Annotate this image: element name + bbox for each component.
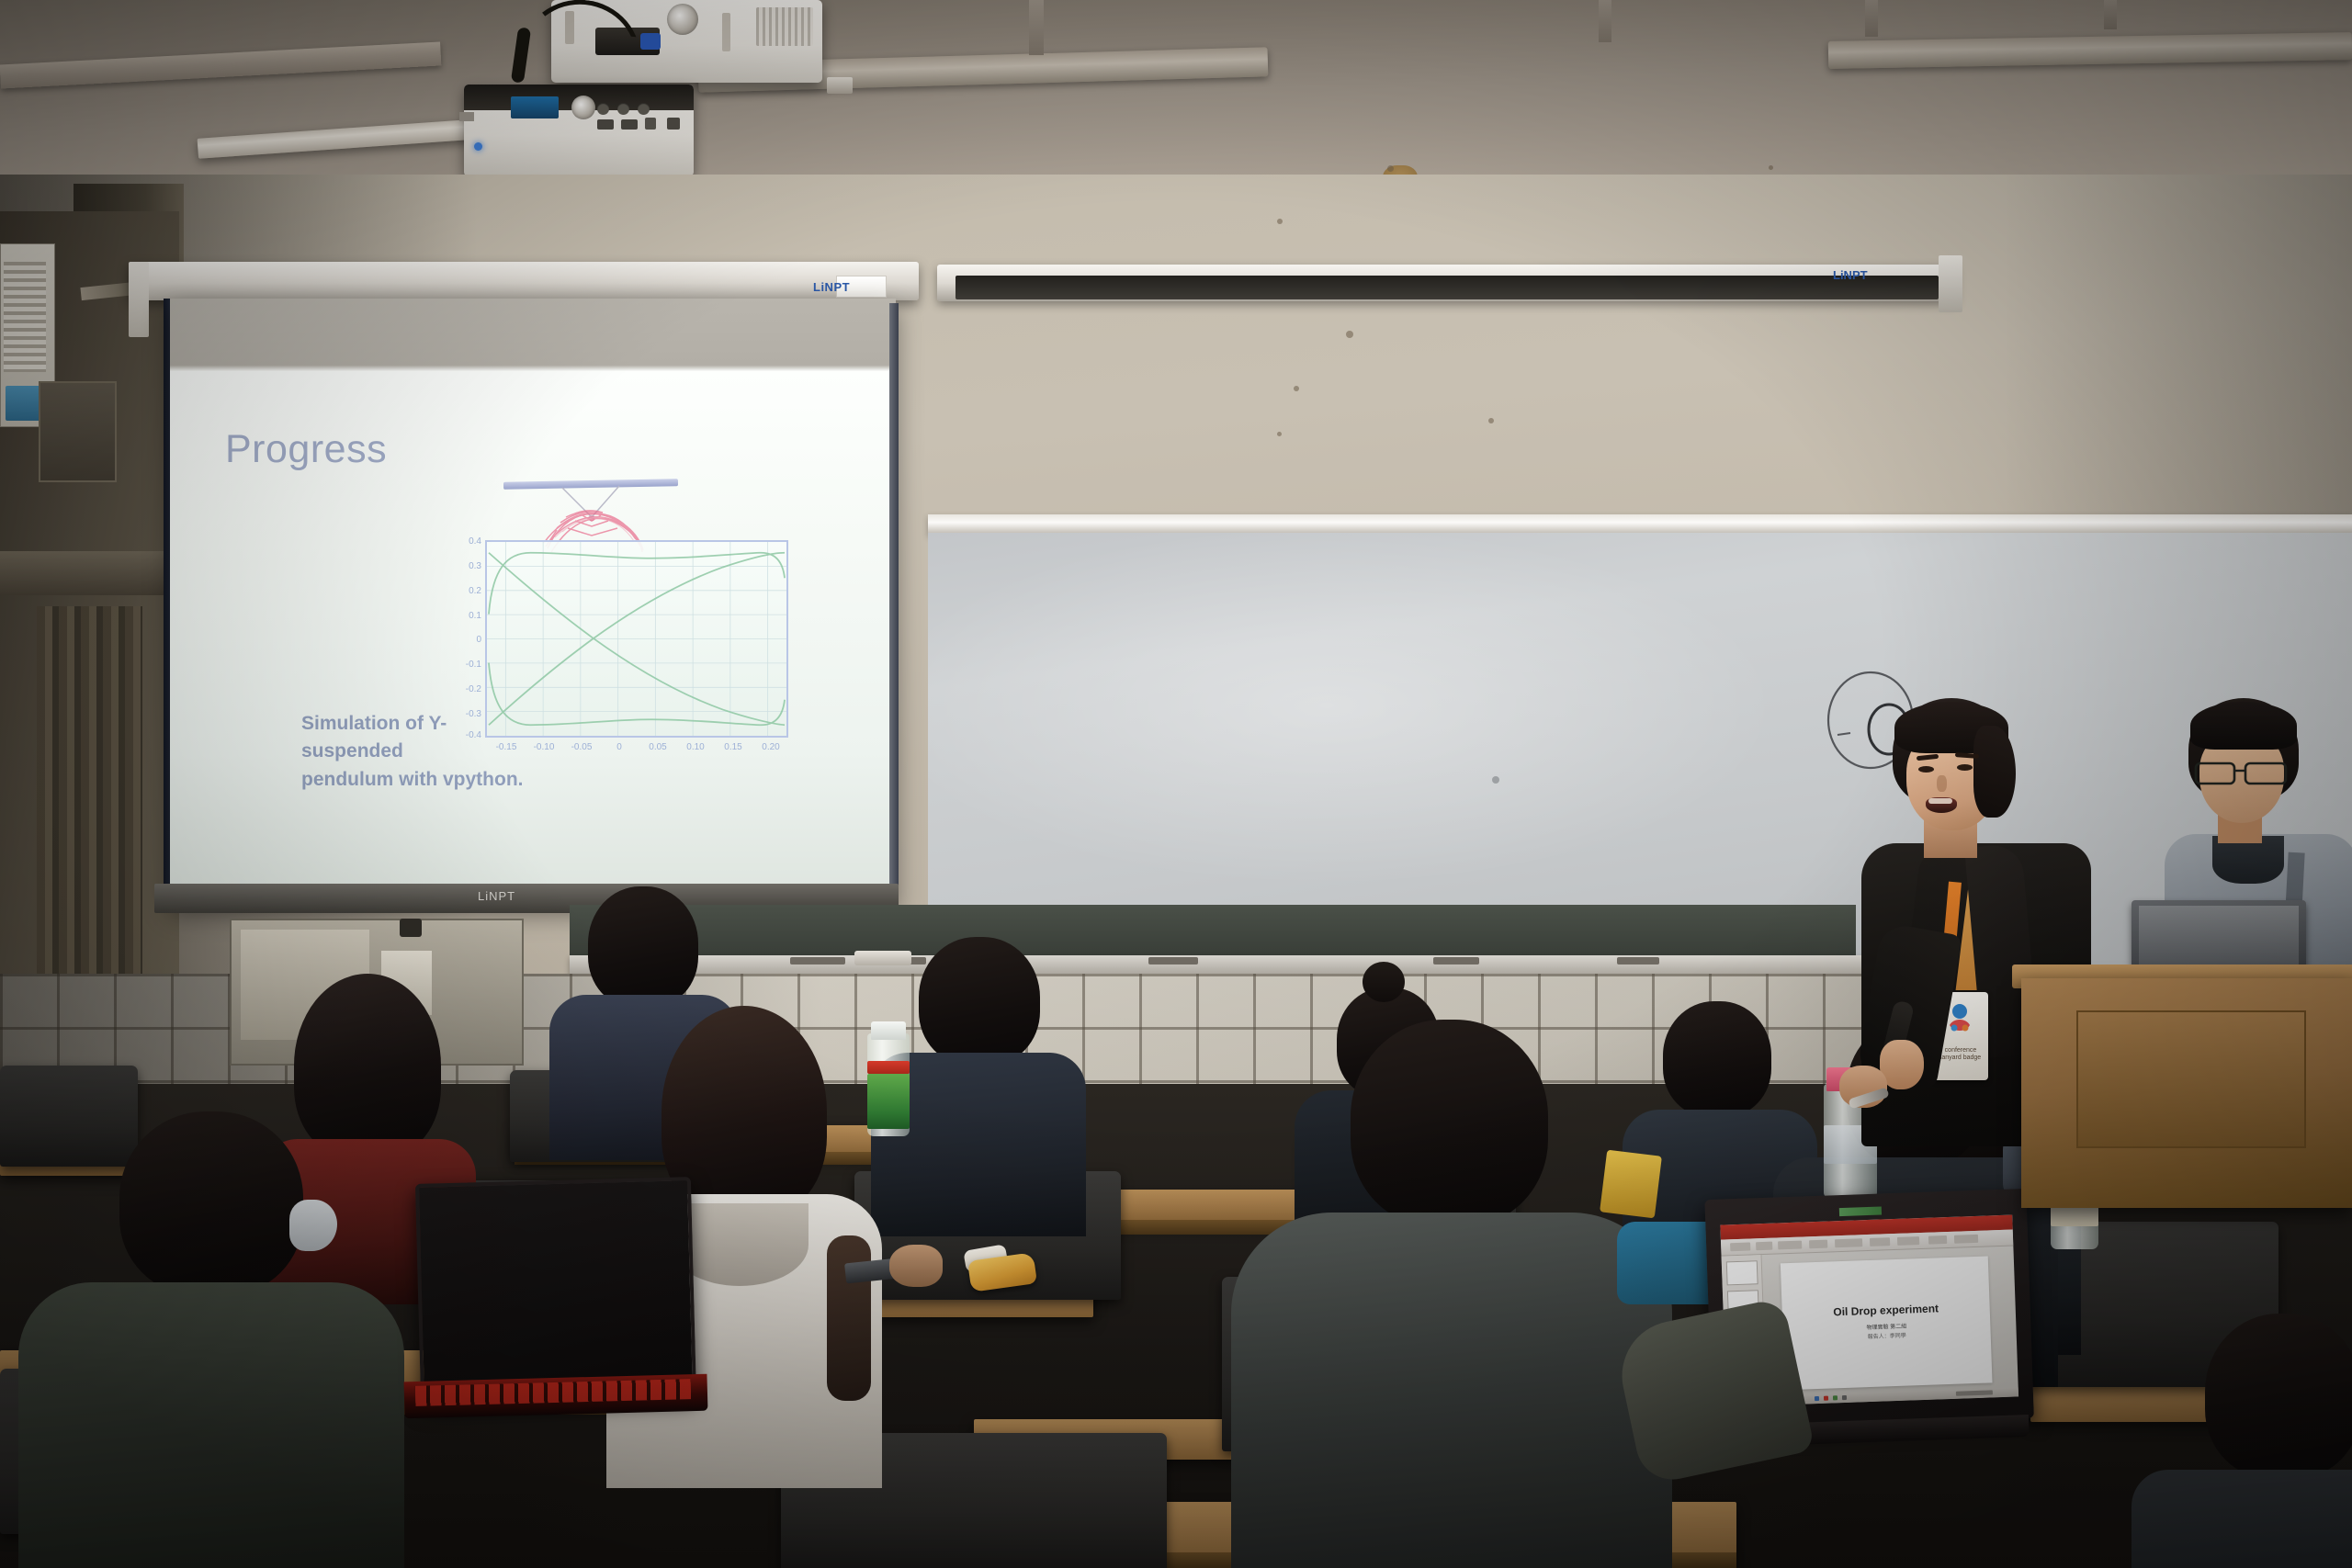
status-icon[interactable] <box>1842 1395 1847 1400</box>
marker-pen[interactable] <box>1433 957 1479 964</box>
wall-speck <box>1346 331 1353 338</box>
green-tea-bottle-cap <box>871 1021 906 1040</box>
plot-xtick: -0.10 <box>524 742 564 752</box>
slide-thumbnail[interactable] <box>1726 1260 1758 1285</box>
chair-back-4[interactable] <box>0 1066 138 1167</box>
plot-ytick: -0.1 <box>445 660 481 670</box>
projector-2-power-led <box>474 142 482 151</box>
projector-1-vent <box>756 7 813 46</box>
ribbon-tab[interactable] <box>1897 1236 1919 1246</box>
ribbon-tab[interactable] <box>1954 1235 1978 1244</box>
ceiling-hanger-rod-2 <box>1599 0 1611 42</box>
audience-long-hair <box>294 974 441 1157</box>
classroom-photo-scene: LiNPT Progress Simulation of Y-suspended… <box>0 0 2352 1568</box>
status-icon[interactable] <box>1833 1395 1837 1400</box>
whiteboard-top-frame <box>928 514 2352 535</box>
audience-torso <box>18 1282 404 1568</box>
foreground-laptop-lid[interactable] <box>415 1177 696 1404</box>
plot-xtick: 0.10 <box>675 742 716 752</box>
projector-2-lan-port <box>667 118 680 130</box>
projection-screen-housing <box>129 262 919 300</box>
whiteboard-rail-brand: LiNPT <box>1833 268 1868 282</box>
student-hand <box>889 1245 943 1287</box>
plot-xtick: 0.15 <box>713 742 753 752</box>
podium-front-panel <box>2076 1010 2306 1148</box>
air-conditioner-display-panel <box>6 386 42 421</box>
projector-1-mount <box>827 77 853 94</box>
marker-pen[interactable] <box>790 957 845 964</box>
slide-caption-line-2: pendulum with vpython. <box>301 766 531 794</box>
presenter-teeth <box>1928 798 1952 804</box>
webcam-sticker <box>1839 1206 1882 1216</box>
ribbon-tab[interactable] <box>1870 1237 1890 1247</box>
projector-2-port-1 <box>597 103 609 115</box>
plot-ytick: -0.2 <box>445 684 481 694</box>
left-wall-beam <box>0 551 175 595</box>
wall-speck <box>1277 432 1282 436</box>
projector-2-hdmi-2 <box>621 119 638 130</box>
projection-screen-bottom-brand: LiNPT <box>478 889 542 908</box>
green-tea-bottle-label <box>867 1074 910 1129</box>
projection-screen-brand: LiNPT <box>813 280 900 297</box>
powerpoint-slide-canvas[interactable]: Oil Drop experiment 物理實驗 第二組 報告人：李同學 <box>1781 1256 1993 1390</box>
ribbon-tab[interactable] <box>1778 1241 1802 1250</box>
ribbon-tab[interactable] <box>1928 1235 1947 1245</box>
wall-speck <box>1294 386 1299 391</box>
plot-xtick: -0.05 <box>561 742 602 752</box>
yellow-folder <box>1600 1150 1662 1219</box>
plot-xtick: 0.05 <box>638 742 678 752</box>
plot-ytick: -0.4 <box>445 730 481 740</box>
green-tea-bottle-label-top <box>867 1061 910 1074</box>
projector-2-port-panel <box>511 96 559 118</box>
wall-speck <box>1387 165 1394 172</box>
plot-ytick: 0.4 <box>445 536 481 547</box>
eyeglasses-icon <box>2194 759 2290 786</box>
plot-ytick: 0.3 <box>445 561 481 571</box>
air-conditioner-vents <box>4 262 46 372</box>
projected-slide: Progress Simulation of Y-suspended pendu… <box>170 377 896 891</box>
ceiling-hanger-rod-3 <box>1865 0 1878 37</box>
ceiling <box>0 0 2352 197</box>
plot-ytick: 0 <box>445 635 481 645</box>
projection-screen-housing-endcap <box>129 262 149 337</box>
phase-plot: 0.4 0.3 0.2 0.1 0 -0.1 -0.2 -0.3 -0.4 -0… <box>485 540 788 738</box>
whiteboard-eraser-block[interactable] <box>854 951 911 965</box>
plot-xtick: -0.15 <box>486 742 526 752</box>
marker-pen[interactable] <box>1148 957 1198 964</box>
whiteboard-magnet <box>1492 776 1499 784</box>
projector-2-audio-port <box>645 118 656 130</box>
whiteboard-upper-rail-insert <box>955 276 1939 299</box>
audience-torso <box>1231 1213 1672 1568</box>
wall-junction-box <box>39 381 117 482</box>
ceiling-hanger-rod-1 <box>1029 0 1044 55</box>
audience-head <box>919 937 1040 1066</box>
ribbon-tab[interactable] <box>1730 1242 1750 1251</box>
projector-2-mount-arm <box>459 112 474 121</box>
audience-head <box>588 886 698 1008</box>
projector-2-port-2 <box>617 103 629 115</box>
window-curtain <box>37 606 142 992</box>
plot-xtick: 0.20 <box>751 742 791 752</box>
projector-2-port-3 <box>638 103 650 115</box>
whiteboard-rail-endcap <box>1939 255 1962 312</box>
wall-sensor <box>400 919 422 937</box>
plot-xtick: 0 <box>599 742 639 752</box>
projector-1-slot-2 <box>722 13 730 51</box>
projector-2-hdmi-1 <box>597 119 614 130</box>
ribbon-tab[interactable] <box>1835 1238 1862 1247</box>
plot-ytick: 0.1 <box>445 611 481 621</box>
wall-speck <box>1277 219 1283 224</box>
ribbon-tab[interactable] <box>1756 1242 1772 1251</box>
audience-hair-bun <box>1363 962 1405 1002</box>
projector-1-lens <box>667 4 698 35</box>
wall-speck <box>1488 418 1494 423</box>
status-icon[interactable] <box>1815 1396 1819 1401</box>
presenter-hair-side <box>1973 726 2016 818</box>
presenter-eye-left <box>1918 766 1934 773</box>
badge-text: conference lanyard badge <box>1937 1047 1984 1063</box>
audience-head <box>1663 1001 1771 1117</box>
presenter-eye-right <box>1957 764 1973 771</box>
status-icon[interactable] <box>1824 1396 1828 1401</box>
podium-laptop-screen[interactable] <box>2139 906 2299 966</box>
ceiling-hanger-rod-4 <box>2104 0 2117 29</box>
plot-series-curves <box>487 542 786 736</box>
audience-torso <box>2131 1470 2352 1568</box>
audience-head <box>1351 1020 1548 1226</box>
wall-speck <box>1769 165 1773 170</box>
eraser[interactable] <box>1617 957 1659 964</box>
presenter-nose <box>1937 775 1947 792</box>
audience-head <box>2205 1314 2352 1479</box>
projector-1-vga-plug <box>640 33 661 50</box>
laptop-slide-title: Oil Drop experiment <box>1782 1300 1990 1320</box>
plot-ytick: 0.2 <box>445 586 481 596</box>
slide-title: Progress <box>225 427 387 472</box>
projector-2-lens <box>571 96 595 119</box>
plot-ytick: -0.3 <box>445 709 481 719</box>
audience-hair-strand <box>827 1235 871 1401</box>
assistant-hair-fringe <box>2190 702 2297 750</box>
ribbon-tab[interactable] <box>1809 1240 1827 1249</box>
audience-head <box>119 1111 303 1295</box>
